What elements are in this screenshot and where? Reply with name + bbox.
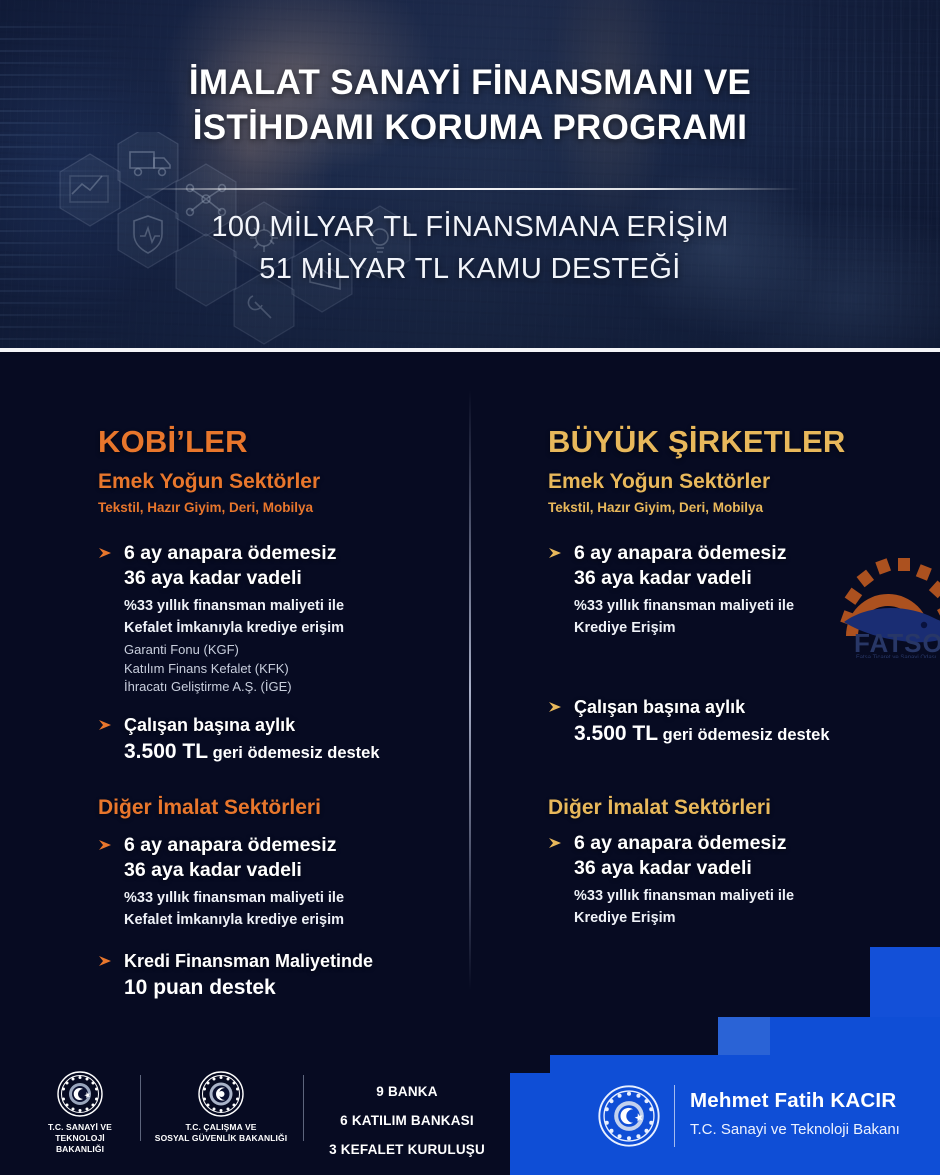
partner-counts: 9 BANKA 6 KATILIM BANKASI 3 KEFALET KURU…	[312, 1077, 502, 1164]
kobiler-s1-b2-amount-row: 3.500 TL geri ödemesiz destek	[124, 738, 458, 767]
kobiler-s2-b1-note1: %33 yıllık finansman maliyeti ile	[124, 887, 458, 909]
kobiler-s1-bullet-1: 6 ay anapara ödemesiz 36 aya kadar vadel…	[98, 541, 458, 697]
column-divider	[469, 390, 471, 990]
buyuk-s2-b1-line1: 6 ay anapara ödemesiz	[574, 831, 928, 856]
turkish-ministry-emblem-icon	[198, 1071, 244, 1117]
buyuk-s1-b2-main: Çalışan başına aylık	[574, 695, 928, 720]
chevron-right-icon	[98, 837, 115, 853]
column-kobiler: KOBİ’LER Emek Yoğun Sektörler Tekstil, H…	[98, 424, 458, 767]
kobiler-section1-subheading: Tekstil, Hazır Giyim, Deri, Mobilya	[98, 498, 458, 517]
page-subtitle-line2: 51 MİLYAR TL KAMU DESTEĞİ	[0, 248, 940, 290]
buyuk-s1-bullet-2: Çalışan başına aylık 3.500 TL geri ödeme…	[548, 695, 928, 749]
buyuk-sirketler-title: BÜYÜK ŞİRKETLER	[548, 424, 928, 460]
kobiler-s1-b2-amount-suffix: geri ödemesiz destek	[208, 744, 380, 762]
kobiler-s2-b1-line1: 6 ay anapara ödemesiz	[124, 833, 458, 858]
footer-divider-2	[303, 1075, 304, 1141]
blue-step-small	[718, 1017, 770, 1057]
kobiler-s1-b1-list-2: İhracatı Geliştirme A.Ş. (İGE)	[124, 678, 458, 697]
fatso-brand-text: FATSO	[854, 628, 940, 658]
fatso-watermark-logo: FATSO Fatsa Ticaret ve Sanayi Odası	[826, 528, 940, 658]
header-banner: İMALAT SANAYİ FİNANSMANI VE İSTİHDAMI KO…	[0, 0, 940, 352]
turkish-ministry-emblem-icon	[57, 1071, 103, 1117]
header-text-group: İMALAT SANAYİ FİNANSMANI VE İSTİHDAMI KO…	[0, 0, 940, 352]
kobiler-section1-heading: Emek Yoğun Sektörler	[98, 469, 458, 495]
kobiler-s1-b1-note1: %33 yıllık finansman maliyeti ile	[124, 595, 458, 617]
chevron-right-icon	[548, 545, 565, 561]
kobiler-s1-b2-amount: 3.500 TL	[124, 740, 208, 763]
minister-name: Mehmet Fatih KACIR	[690, 1088, 896, 1114]
buyuk-s2-b1-note2: Krediye Erişim	[574, 907, 928, 929]
page-subtitle-line1: 100 MİLYAR TL FİNANSMANA ERİŞİM	[0, 206, 940, 248]
kobiler-s1-b1-note2: Kefalet İmkanıyla krediye erişim	[124, 617, 458, 639]
page-title: İMALAT SANAYİ FİNANSMANI VE İSTİHDAMI KO…	[0, 60, 940, 150]
chevron-right-icon	[98, 545, 115, 561]
kobiler-s1-b1-line1: 6 ay anapara ödemesiz	[124, 541, 458, 566]
header-bottom-strip	[0, 348, 940, 352]
ministry-2-line1: T.C. ÇALIŞMA VE	[150, 1122, 292, 1133]
buyuk-section1-subheading: Tekstil, Hazır Giyim, Deri, Mobilya	[548, 498, 928, 517]
page-title-line2: İSTİHDAMI KORUMA PROGRAMI	[0, 105, 940, 150]
kobiler-s2-bullet-1: 6 ay anapara ödemesiz 36 aya kadar vadel…	[98, 833, 458, 931]
ministry-1-line2: TEKNOLOJİ BAKANLIĞI	[30, 1133, 130, 1155]
kobiler-section2-heading: Diğer İmalat Sektörleri	[98, 795, 458, 821]
ministry-2-block: T.C. ÇALIŞMA VE SOSYAL GÜVENLİK BAKANLIĞ…	[150, 1071, 292, 1144]
page-title-line1: İMALAT SANAYİ FİNANSMANI VE	[0, 60, 940, 105]
buyuk-s1-b2-amount-row: 3.500 TL geri ödemesiz destek	[574, 720, 928, 749]
chevron-right-icon	[98, 717, 115, 733]
title-divider	[140, 188, 800, 190]
column-kobiler-section2: Diğer İmalat Sektörleri 6 ay anapara öde…	[98, 795, 458, 1001]
partner-count-0: 9 BANKA	[312, 1077, 502, 1106]
turkish-ministry-emblem-icon	[598, 1085, 660, 1147]
buyuk-s2-b1-line2: 36 aya kadar vadeli	[574, 856, 928, 881]
chevron-right-icon	[98, 953, 115, 969]
blue-step-top	[870, 947, 940, 1022]
kobiler-s2-b2-main: Kredi Finansman Maliyetinde	[124, 949, 458, 974]
partner-count-2: 3 KEFALET KURULUŞU	[312, 1135, 502, 1164]
buyuk-s1-b2-amount: 3.500 TL	[574, 722, 658, 745]
chevron-right-icon	[548, 835, 565, 851]
ministry-1-line1: T.C. SANAYİ VE	[30, 1122, 130, 1133]
minister-separator-bar	[674, 1085, 675, 1147]
kobiler-s2-b1-note2: Kefalet İmkanıyla krediye erişim	[124, 909, 458, 931]
kobiler-s1-bullet-2: Çalışan başına aylık 3.500 TL geri ödeme…	[98, 713, 458, 767]
ministry-2-line2: SOSYAL GÜVENLİK BAKANLIĞI	[150, 1133, 292, 1144]
infographic-page: İMALAT SANAYİ FİNANSMANI VE İSTİHDAMI KO…	[0, 0, 940, 1175]
kobiler-s1-b2-main: Çalışan başına aylık	[124, 713, 458, 738]
kobiler-s1-b1-list-1: Katılım Finans Kefalet (KFK)	[124, 660, 458, 679]
fatso-tagline-text: Fatsa Ticaret ve Sanayi Odası	[856, 655, 937, 658]
kobiler-s2-bullet-2: Kredi Finansman Maliyetinde 10 puan dest…	[98, 949, 458, 1001]
kobiler-title: KOBİ’LER	[98, 424, 458, 460]
kobiler-s2-b2-amount: 10 puan destek	[124, 974, 458, 1001]
buyuk-section2-heading: Diğer İmalat Sektörleri	[548, 795, 928, 821]
column-buyuk-section2: Diğer İmalat Sektörleri 6 ay anapara öde…	[548, 795, 928, 929]
footer-divider-1	[140, 1075, 141, 1141]
kobiler-s1-b1-line2: 36 aya kadar vadeli	[124, 566, 458, 591]
minister-signature-block: Mehmet Fatih KACIR T.C. Sanayi ve Teknol…	[598, 1077, 938, 1157]
kobiler-s2-b1-line2: 36 aya kadar vadeli	[124, 858, 458, 883]
partner-count-1: 6 KATILIM BANKASI	[312, 1106, 502, 1135]
chevron-right-icon	[548, 699, 565, 715]
page-subtitle: 100 MİLYAR TL FİNANSMANA ERİŞİM 51 MİLYA…	[0, 206, 940, 290]
buyuk-s2-bullet-1: 6 ay anapara ödemesiz 36 aya kadar vadel…	[548, 831, 928, 929]
buyuk-s2-b1-note1: %33 yıllık finansman maliyeti ile	[574, 885, 928, 907]
buyuk-section1-heading: Emek Yoğun Sektörler	[548, 469, 928, 495]
buyuk-s1-b2-amount-suffix: geri ödemesiz destek	[658, 726, 830, 744]
kobiler-s1-b1-list-0: Garanti Fonu (KGF)	[124, 641, 458, 660]
minister-role: T.C. Sanayi ve Teknoloji Bakanı	[690, 1119, 900, 1141]
ministry-1-block: T.C. SANAYİ VE TEKNOLOJİ BAKANLIĞI	[30, 1071, 130, 1155]
footer: T.C. SANAYİ VE TEKNOLOJİ BAKANLIĞI	[0, 1055, 940, 1175]
